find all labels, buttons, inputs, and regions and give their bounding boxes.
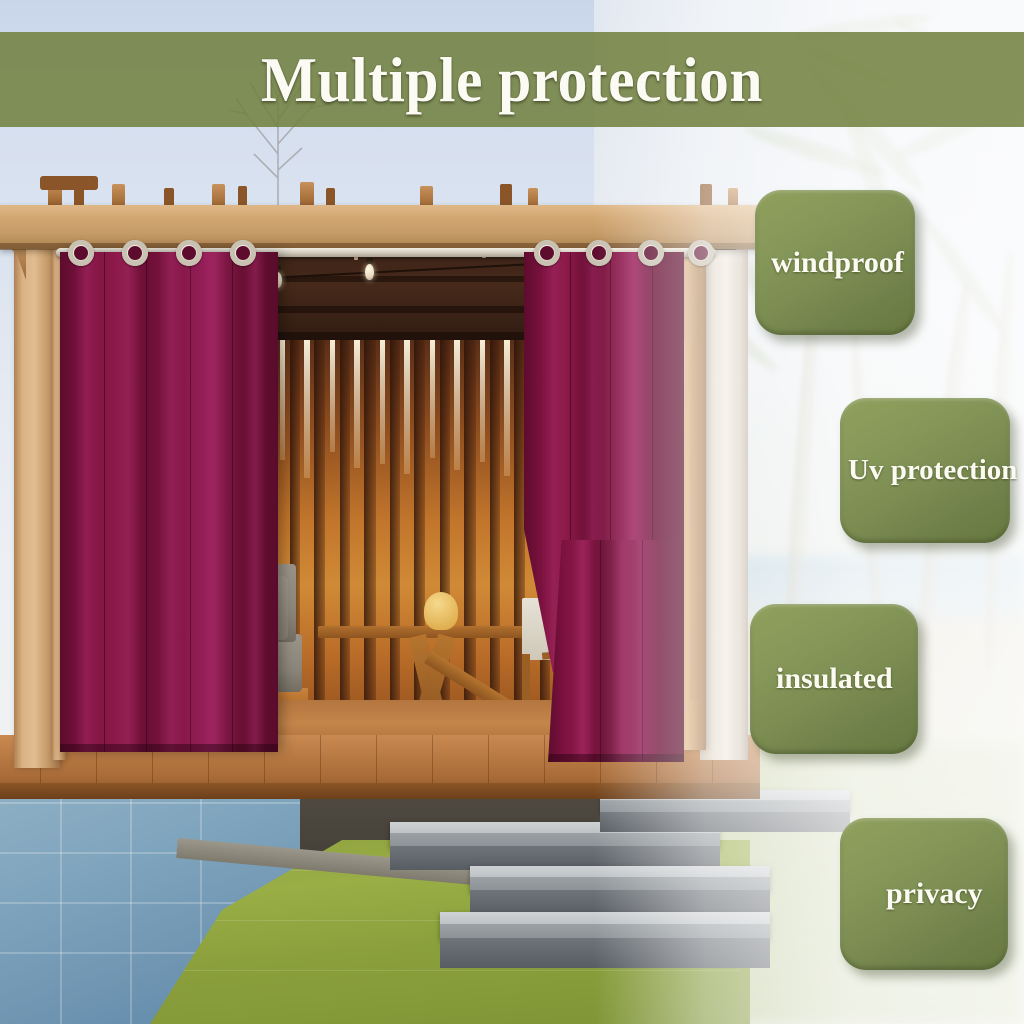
curtain-panel-left[interactable] <box>60 252 278 752</box>
stone-step <box>470 866 770 892</box>
product-feature-image: Multiple protection windproof Uv protect… <box>0 0 1024 1024</box>
rafter-tail <box>40 176 98 190</box>
step-riser <box>440 938 770 968</box>
table-vase <box>424 592 458 630</box>
stone-step <box>440 912 770 940</box>
header-banner: Multiple protection <box>0 32 1024 127</box>
page-title: Multiple protection <box>261 43 763 117</box>
light-bulb <box>365 264 374 280</box>
feature-badge-windproof[interactable]: windproof <box>755 190 915 335</box>
curtain-grommet <box>586 240 612 266</box>
curtain-panel-right-lower[interactable] <box>548 540 684 762</box>
feature-badge-label: insulated <box>750 662 893 696</box>
feature-badge-insulated[interactable]: insulated <box>750 604 918 754</box>
feature-badge-label: privacy <box>840 877 983 911</box>
curtain-grommet <box>68 240 94 266</box>
curtain-grommet <box>176 240 202 266</box>
curtain-grommet <box>230 240 256 266</box>
feature-badge-label: windproof <box>755 246 904 280</box>
curtain-grommet <box>688 240 714 266</box>
feature-badge-label: Uv protection <box>840 454 1017 487</box>
curtain-grommet <box>534 240 560 266</box>
feature-badge-uv-protection[interactable]: Uv protection <box>840 398 1010 543</box>
feature-badge-privacy[interactable]: privacy <box>840 818 1008 970</box>
curtain-grommet <box>638 240 664 266</box>
deck-fascia <box>0 783 760 799</box>
curtain-grommet <box>122 240 148 266</box>
step-riser <box>600 812 850 832</box>
pergola-column-right <box>700 250 748 760</box>
